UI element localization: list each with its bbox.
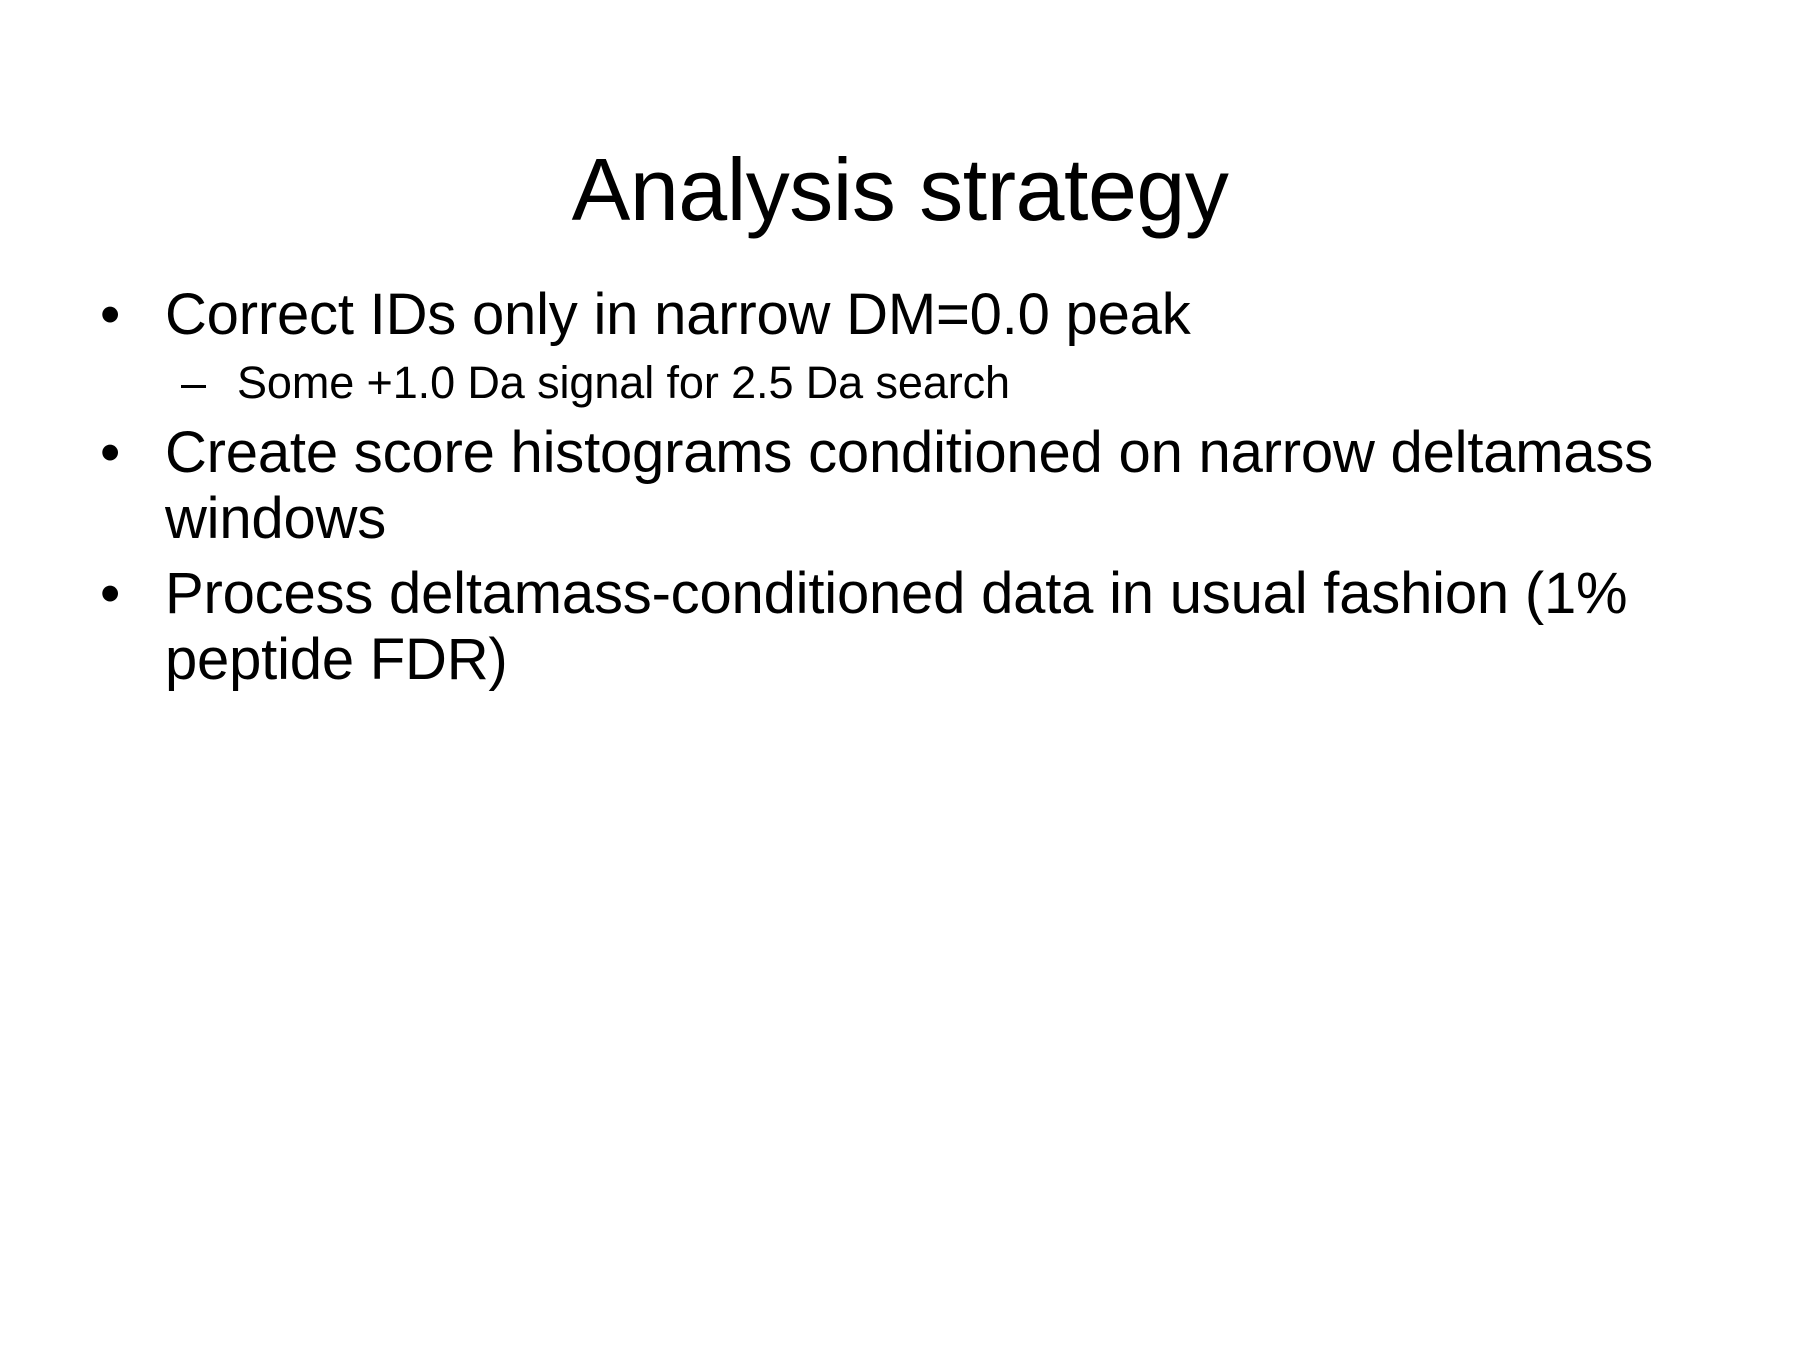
bullet-dot-icon: •	[100, 561, 120, 627]
bullet-dot-icon: •	[100, 282, 120, 348]
bullet-dot-icon: •	[100, 420, 120, 486]
list-item: • Create score histograms conditioned on…	[96, 420, 1716, 551]
sub-bullet-text: Some +1.0 Da signal for 2.5 Da search	[237, 357, 1716, 409]
sub-bullet-list: – Some +1.0 Da signal for 2.5 Da search	[165, 357, 1716, 409]
presentation-slide: Analysis strategy • Correct IDs only in …	[0, 0, 1800, 1350]
page-title: Analysis strategy	[117, 144, 1683, 236]
bullet-text: Correct IDs only in narrow DM=0.0 peak	[165, 282, 1716, 348]
bullet-text: Create score histograms conditioned on n…	[165, 420, 1716, 551]
list-item: • Process deltamass-conditioned data in …	[96, 561, 1716, 692]
bullet-text: Process deltamass-conditioned data in us…	[165, 561, 1716, 692]
list-item: • Correct IDs only in narrow DM=0.0 peak…	[96, 282, 1716, 408]
bullet-dash-icon: –	[181, 357, 206, 409]
slide-body: • Correct IDs only in narrow DM=0.0 peak…	[96, 282, 1716, 702]
list-item: – Some +1.0 Da signal for 2.5 Da search	[165, 357, 1716, 409]
bullet-list: • Correct IDs only in narrow DM=0.0 peak…	[96, 282, 1716, 692]
